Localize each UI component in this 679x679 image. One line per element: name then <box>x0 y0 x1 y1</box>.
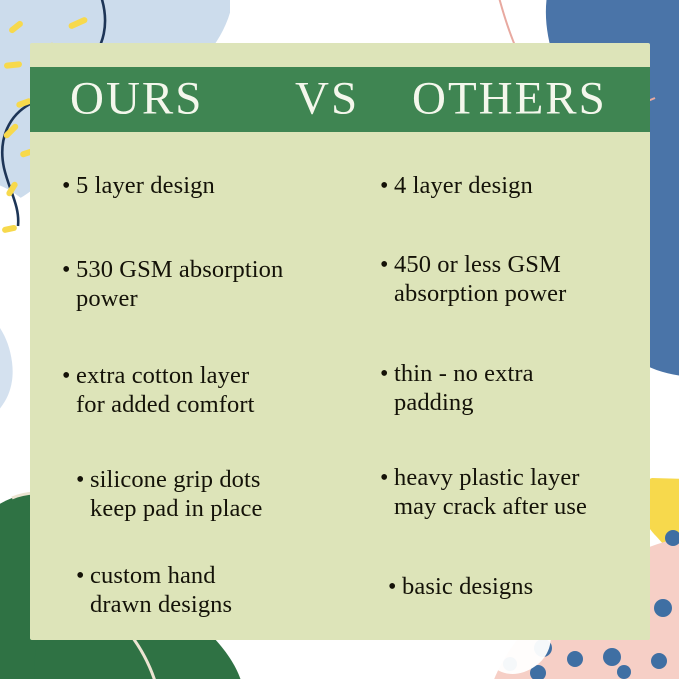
bullet-icon: • <box>380 172 394 200</box>
bullet-icon: • <box>62 362 76 390</box>
list-item: • 4 layer design <box>380 172 645 201</box>
list-item-label: 5 layer design <box>76 172 362 201</box>
bullet-icon: • <box>388 573 402 601</box>
list-item: • 450 or less GSM absorption power <box>380 251 645 308</box>
list-item-label: 530 GSM absorption power <box>76 256 362 313</box>
list-item-label: silicone grip dots keep pad in place <box>90 466 366 523</box>
list-item: • heavy plastic layer may crack after us… <box>380 464 648 521</box>
comparison-columns: • 5 layer design • 530 GSM absorption po… <box>30 148 650 640</box>
bullet-icon: • <box>380 464 394 492</box>
list-item-label: heavy plastic layer may crack after use <box>394 464 648 521</box>
poster-canvas: OURS VS OTHERS • 5 layer design • 530 GS… <box>0 0 679 679</box>
column-ours: • 5 layer design • 530 GSM absorption po… <box>52 148 372 640</box>
list-item: • custom hand drawn designs <box>76 562 366 619</box>
list-item: • 5 layer design <box>62 172 362 201</box>
list-item-label: extra cotton layer for added comfort <box>76 362 362 419</box>
title-row: OURS VS OTHERS <box>30 67 650 132</box>
header-bar: OURS VS OTHERS <box>30 67 650 132</box>
bullet-icon: • <box>62 172 76 200</box>
blob-white-bottom-center <box>300 640 480 679</box>
title-vs: VS <box>295 75 359 122</box>
list-item-label: 450 or less GSM absorption power <box>394 251 645 308</box>
bullet-icon: • <box>380 251 394 279</box>
list-item: • silicone grip dots keep pad in place <box>76 466 366 523</box>
list-item-label: basic designs <box>402 573 653 602</box>
bullet-icon: • <box>380 360 394 388</box>
comparison-card: OURS VS OTHERS • 5 layer design • 530 GS… <box>30 43 650 640</box>
list-item-label: custom hand drawn designs <box>90 562 366 619</box>
list-item-label: thin - no extra padding <box>394 360 645 417</box>
list-item: • 530 GSM absorption power <box>62 256 362 313</box>
list-item-label: 4 layer design <box>394 172 645 201</box>
title-ours: OURS <box>70 75 203 122</box>
list-item: • extra cotton layer for added comfort <box>62 362 362 419</box>
title-others: OTHERS <box>412 75 607 122</box>
column-others: • 4 layer design • 450 or less GSM absor… <box>372 148 650 640</box>
bullet-icon: • <box>76 466 90 494</box>
bullet-icon: • <box>62 256 76 284</box>
list-item: • basic designs <box>388 573 653 602</box>
list-item: • thin - no extra padding <box>380 360 645 417</box>
bullet-icon: • <box>76 562 90 590</box>
